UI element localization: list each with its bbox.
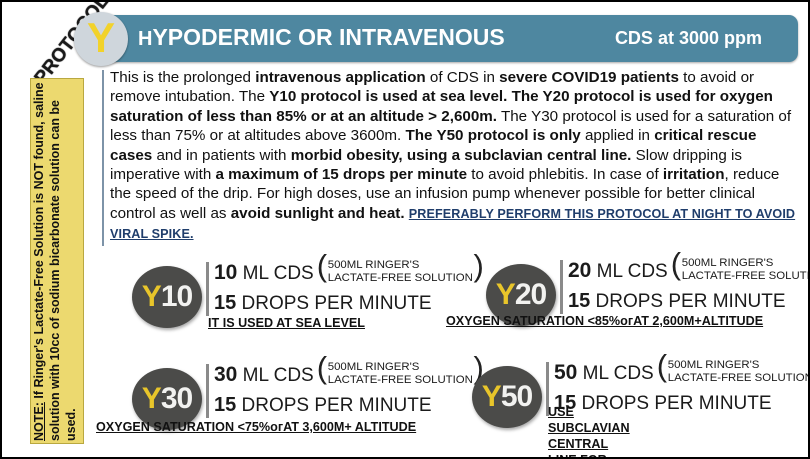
drops-label: DROPS PER MINUTE [236,293,431,314]
solution-line-1: 500ML RINGER'S [682,257,810,270]
paren-left: ( [317,251,327,281]
dose-unit: ML CDS [591,261,667,282]
dose-unit: ML CDS [577,363,653,384]
title-rest: YPODERMIC OR INTRAVENOUS [152,24,504,50]
badge-label: Y10 [130,266,204,328]
body-run-19: irritation [663,166,725,183]
solution-line-2: LACTATE-FREE SOLUTION [682,270,810,283]
card-body-y30: 30 ML CDS(500ML RINGER'SLACTATE-FREE SOL… [214,362,484,421]
side-note-text: NOTE: If Ringer's Lactate-Free Solution … [31,81,83,441]
body-run-9: at an altitude > 2,600m. [330,108,497,125]
dose-line: 50 ML CDS(500ML RINGER'SLACTATE-FREE SOL… [554,360,810,390]
drops-label: DROPS PER MINUTE [236,395,431,416]
body-run-14: and in patients with [152,147,290,164]
body-panel: This is the prolonged intravenous applic… [102,68,802,250]
drops-label: DROPS PER MINUTE [590,291,785,312]
paren-left: ( [317,353,327,383]
footnote-y10: IT IS USED AT SEA LEVEL [208,316,365,330]
solution-note: (500ML RINGER'SLACTATE-FREE SOLUTION) [317,361,484,389]
dose-label: CDS at 3000 ppm [615,28,762,49]
drops-line: 15 DROPS PER MINUTE [214,290,484,319]
solution-line-1: 500ML RINGER'S [328,259,473,272]
footnote-y30: OXYGEN SATURATION <75%огAT 3,600M+ ALTIT… [96,420,416,434]
body-run-2: of CDS in [426,69,499,86]
y-logo-icon: Y [74,12,128,66]
body-run-12: applied in [581,127,654,144]
body-run-5: Y10 protocol is used at sea level. [269,88,507,105]
badge-number: 10 [161,282,192,312]
footnote-y50: USE SUBCLAVIAN CENTRAL LINE FORCRITICAL … [548,404,630,459]
solution-note: (500ML RINGER'SLACTATE-FREE SOLUTION) [671,257,810,285]
solution-note: (500ML RINGER'SLACTATE-FREE SOLUTION) [317,259,484,287]
dose-line: 30 ML CDS(500ML RINGER'SLACTATE-FREE SOL… [214,362,484,392]
dose-unit: ML CDS [237,263,313,284]
body-run-11: The Y50 protocol is only [401,127,580,144]
paren-left: ( [671,249,681,279]
solution-text: 500ML RINGER'SLACTATE-FREE SOLUTION [657,359,810,384]
badge-y50: Y50 [470,366,544,428]
dose-amount: 10 [214,261,237,284]
body-run-17: a maximum of 15 drops per minute [216,166,468,183]
y-logo-letter: Y [87,17,115,59]
badge-number: 20 [515,280,546,310]
body-run-3: severe COVID19 patients [499,69,679,86]
solution-text: 500ML RINGER'SLACTATE-FREE SOLUTION [317,361,484,386]
header-bar: HYPODERMIC OR INTRAVENOUS CDS at 3000 pp… [98,15,798,62]
badge-y10: Y10 [130,266,204,328]
dose-amount: 30 [214,363,237,386]
body-left-rule [102,70,104,246]
solution-text: 500ML RINGER'SLACTATE-FREE SOLUTION [671,257,810,282]
solution-line-1: 500ML RINGER'S [668,359,810,372]
body-run-8: or [307,108,331,125]
solution-line-2: LACTATE-FREE SOLUTION [328,374,473,387]
dose-line: 10 ML CDS(500ML RINGER'SLACTATE-FREE SOL… [214,260,484,290]
drops-amount: 15 [214,292,236,314]
dose-unit: ML CDS [237,365,313,386]
drops-line: 15 DROPS PER MINUTE [568,288,810,317]
footnote-y20: OXYGEN SATURATION <85%огAT 2,600M+ALTITU… [446,314,763,328]
card-rule [560,260,563,314]
footnote-line-1: USE SUBCLAVIAN CENTRAL LINE FOR [548,404,630,459]
body-paragraph: This is the prolonged intravenous applic… [110,68,798,245]
drops-amount: 15 [568,290,590,312]
solution-line-2: LACTATE-FREE SOLUTION [668,372,810,385]
badge-number: 30 [161,384,192,414]
badge-letter: Y [496,280,515,310]
side-note-label: NOTE: [32,402,46,441]
card-body-y20: 20 ML CDS(500ML RINGER'SLACTATE-FREE SOL… [568,258,810,317]
side-note-panel: NOTE: If Ringer's Lactate-Free Solution … [30,78,84,444]
dose-line: 20 ML CDS(500ML RINGER'SLACTATE-FREE SOL… [568,258,810,288]
solution-line-2: LACTATE-FREE SOLUTION [328,272,473,285]
drops-line: 15 DROPS PER MINUTE [214,392,484,421]
body-run-1: intravenous application [255,69,425,86]
body-run-18: to avoid phlebitis. In case of [467,166,663,183]
badge-letter: Y [482,382,501,412]
solution-line-1: 500ML RINGER'S [328,361,473,374]
badge-letter: Y [142,384,161,414]
side-note-body: If Ringer's Lactate-Free Solution is NOT… [32,82,78,441]
card-body-y10: 10 ML CDS(500ML RINGER'SLACTATE-FREE SOL… [214,260,484,319]
dose-amount: 50 [554,361,577,384]
paren-right: ) [474,251,484,281]
solution-text: 500ML RINGER'SLACTATE-FREE SOLUTION [317,259,484,284]
badge-number: 50 [501,382,532,412]
page-title: HYPODERMIC OR INTRAVENOUS [138,24,505,51]
drops-amount: 15 [214,394,236,416]
card-rule [206,262,209,316]
body-run-0: This is the prolonged [110,69,255,86]
dose-amount: 20 [568,259,591,282]
body-run-15: morbid obesity, using a subclavian centr… [291,147,632,164]
badge-label: Y50 [470,366,544,428]
badge-letter: Y [142,282,161,312]
paren-left: ( [657,351,667,381]
body-run-21: avoid sunlight and heat. [231,205,405,222]
title-lead: H [138,28,152,50]
protocol-infographic: PROTOCOL HYPODERMIC OR INTRAVENOUS CDS a… [0,0,810,459]
card-rule [206,364,209,418]
solution-note: (500ML RINGER'SLACTATE-FREE SOLUTION) [657,359,810,387]
